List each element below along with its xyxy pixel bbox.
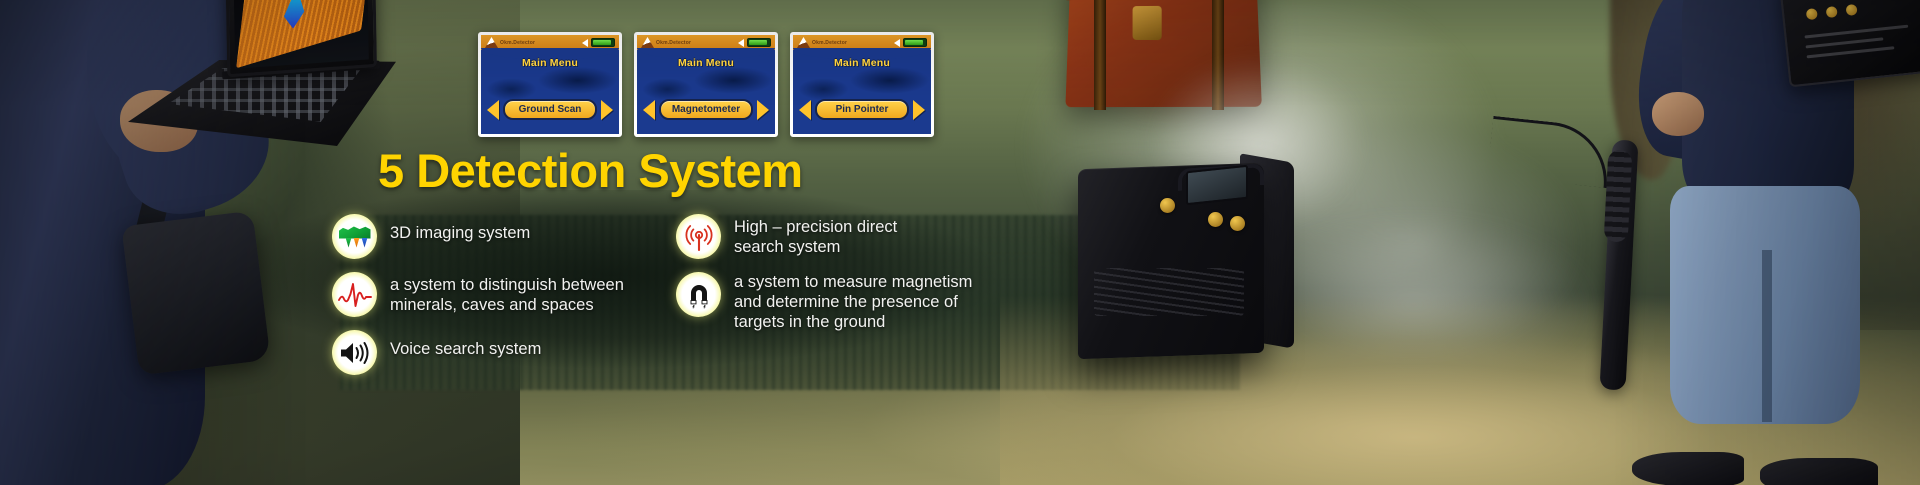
feature-label: a system to measure magnetism and determ…: [734, 272, 972, 332]
arrow-left-icon[interactable]: [487, 100, 499, 120]
feature-label: 3D imaging system: [390, 214, 530, 243]
feature-label: High – precision direct search system: [734, 214, 897, 257]
person-with-detector: [1520, 0, 1920, 485]
feature-label: a system to distinguish between minerals…: [390, 272, 624, 315]
device-panel-pin-pointer[interactable]: Okm.Detector Main Menu Pin Pointer: [790, 32, 934, 137]
feature-item-high-precision: High – precision direct search system: [676, 214, 1016, 259]
signal-antenna-icon: [676, 214, 721, 259]
treasure-chest-band: [1094, 0, 1106, 110]
brand-mark-icon: [641, 37, 654, 48]
detector-knob[interactable]: [1208, 212, 1223, 227]
arrow-left-icon[interactable]: [799, 100, 811, 120]
feature-item-magnetism: a system to measure magnetism and determ…: [676, 272, 1016, 332]
detector-device-vent: [1094, 268, 1244, 316]
panel-mode-button[interactable]: Magnetometer: [659, 99, 753, 120]
panel-status-indicators: [582, 38, 615, 47]
panel-brand-text: Okm.Detector: [500, 40, 535, 46]
panel-title: Main Menu: [637, 57, 775, 69]
person-right-shoe: [1760, 458, 1878, 485]
person-right-shoe: [1632, 452, 1744, 485]
arrow-right-icon[interactable]: [757, 100, 769, 120]
tablet-text-line: [1807, 46, 1895, 58]
speaker-icon: [738, 39, 744, 47]
detector-knob[interactable]: [1160, 198, 1175, 213]
panel-mode-selector[interactable]: Ground Scan: [487, 99, 613, 120]
person-right-jeans-seam: [1762, 250, 1772, 422]
battery-icon: [591, 38, 615, 47]
arrow-left-icon[interactable]: [643, 100, 655, 120]
detector-knob[interactable]: [1230, 216, 1245, 231]
laptop: [130, 0, 390, 148]
feature-item-voice-search: Voice search system: [332, 330, 662, 375]
panel-status-bar: Okm.Detector: [481, 35, 619, 50]
tablet-indicator-lights: [1806, 4, 1858, 20]
speaker-icon: [582, 39, 588, 47]
laptop-screen: [225, 0, 377, 77]
person-right-hand: [1652, 92, 1704, 136]
tablet-text-line: [1806, 37, 1884, 48]
battery-icon: [903, 38, 927, 47]
panel-mode-button[interactable]: Pin Pointer: [815, 99, 909, 120]
device-panel-ground-scan[interactable]: Okm.Detector Main Menu Ground Scan: [478, 32, 622, 137]
terrain-3d-icon: [332, 214, 377, 259]
panel-title: Main Menu: [793, 57, 931, 69]
panel-status-indicators: [738, 38, 771, 47]
feature-list-right: High – precision direct search system a …: [676, 214, 1016, 345]
person-with-laptop: [0, 0, 250, 485]
panel-mode-button[interactable]: Ground Scan: [503, 99, 597, 120]
panel-brand-text: Okm.Detector: [812, 40, 847, 46]
handheld-tablet: [1779, 0, 1920, 87]
arrow-right-icon[interactable]: [601, 100, 613, 120]
equipment-bag: [121, 211, 270, 376]
page-title: 5 Detection System: [378, 143, 803, 198]
panel-status-indicators: [894, 38, 927, 47]
panel-brand-logo: Okm.Detector: [797, 37, 847, 48]
laptop-screen-display: [233, 0, 369, 69]
panel-brand-logo: Okm.Detector: [641, 37, 691, 48]
device-panel-magnetometer[interactable]: Okm.Detector Main Menu Magnetometer: [634, 32, 778, 137]
device-mode-panels: Okm.Detector Main Menu Ground Scan Okm: [478, 32, 934, 137]
panel-brand-logo: Okm.Detector: [485, 37, 535, 48]
speaker-wave-icon: [332, 330, 377, 375]
feature-label: Voice search system: [390, 330, 541, 359]
panel-brand-text: Okm.Detector: [656, 40, 691, 46]
panel-title: Main Menu: [481, 57, 619, 69]
magnet-icon: [676, 272, 721, 317]
tablet-text-line: [1804, 25, 1908, 39]
treasure-chest-lock: [1133, 6, 1162, 40]
panel-mode-selector[interactable]: Magnetometer: [643, 99, 769, 120]
panel-status-bar: Okm.Detector: [637, 35, 775, 50]
arrow-right-icon[interactable]: [913, 100, 925, 120]
feature-list-left: 3D imaging system a system to distinguis…: [332, 214, 662, 388]
waveform-icon: [332, 272, 377, 317]
brand-mark-icon: [797, 37, 810, 48]
panel-status-bar: Okm.Detector: [793, 35, 931, 50]
speaker-icon: [894, 39, 900, 47]
battery-icon: [747, 38, 771, 47]
brand-mark-icon: [485, 37, 498, 48]
feature-item-3d-imaging: 3D imaging system: [332, 214, 662, 259]
feature-item-mineral-distinction: a system to distinguish between minerals…: [332, 272, 662, 317]
detector-device-screen: [1186, 165, 1248, 206]
panel-mode-selector[interactable]: Pin Pointer: [799, 99, 925, 120]
promo-banner: Okm.Detector Main Menu Ground Scan Okm: [0, 0, 1920, 485]
